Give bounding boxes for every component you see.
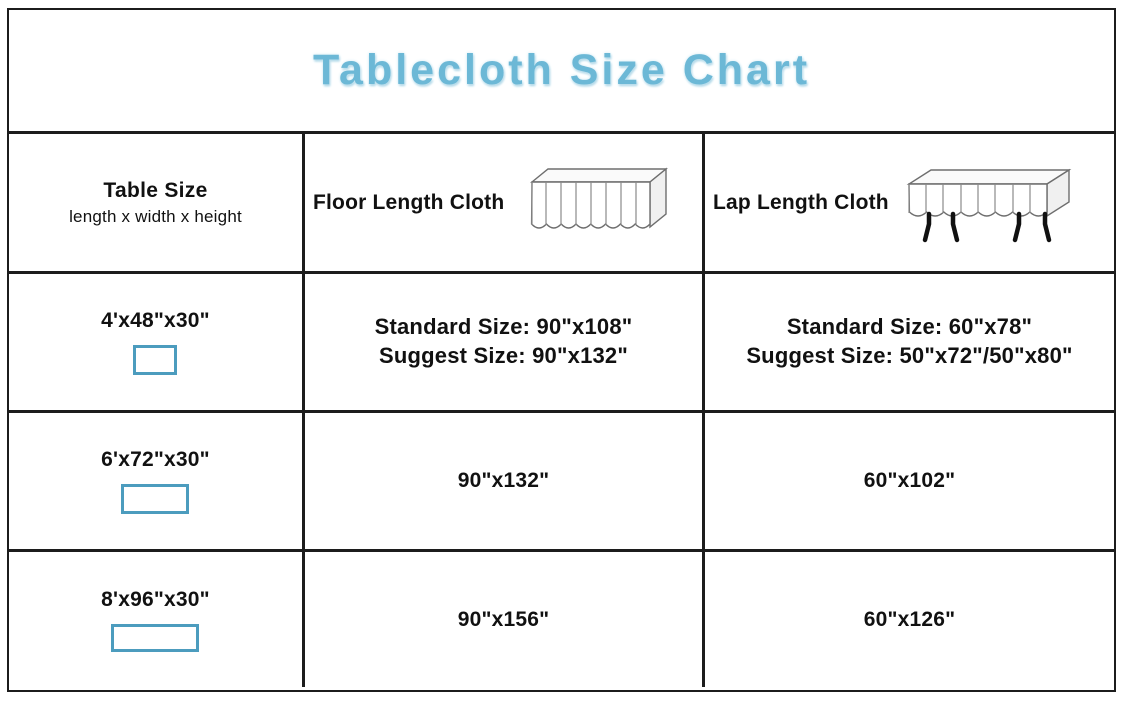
table-footprint-icon xyxy=(133,345,177,375)
table-size-value: 8'x96"x30" xyxy=(101,588,210,612)
floor-suggest-size: Suggest Size: 90"x132" xyxy=(375,342,633,371)
table-size-subtitle: length x width x height xyxy=(69,206,242,227)
cell-floor-length: 90"x156" xyxy=(305,552,705,687)
table-row: 8'x96"x30" 90"x156" 60"x126" xyxy=(9,552,1114,687)
table-header-row: Table Size length x width x height Floor… xyxy=(9,134,1114,274)
floor-standard-size: Standard Size: 90"x108" xyxy=(375,313,633,342)
cell-lap-length: Standard Size: 60"x78" Suggest Size: 50"… xyxy=(705,274,1114,410)
floor-length-size: 90"x132" xyxy=(458,467,550,494)
floor-length-tablecloth-icon xyxy=(510,164,668,242)
table-size-value: 6'x72"x30" xyxy=(101,448,210,472)
lap-length-tablecloth-icon xyxy=(895,162,1075,244)
floor-length-size: 90"x156" xyxy=(458,606,550,633)
header-cell-floor-length: Floor Length Cloth xyxy=(305,134,705,271)
cell-table-size: 8'x96"x30" xyxy=(9,552,305,687)
lap-standard-size: Standard Size: 60"x78" xyxy=(746,313,1072,342)
cell-lap-length: 60"x126" xyxy=(705,552,1114,687)
header-cell-table-size: Table Size length x width x height xyxy=(9,134,305,271)
table-legs-icon xyxy=(925,214,1049,240)
cell-floor-length: 90"x132" xyxy=(305,413,705,549)
lap-length-size: 60"x102" xyxy=(864,467,956,494)
table-footprint-icon xyxy=(111,624,199,652)
cell-lap-length: 60"x102" xyxy=(705,413,1114,549)
table-row: 6'x72"x30" 90"x132" 60"x102" xyxy=(9,413,1114,552)
table-row: 4'x48"x30" Standard Size: 90"x108" Sugge… xyxy=(9,274,1114,413)
cell-table-size: 6'x72"x30" xyxy=(9,413,305,549)
lap-suggest-size: Suggest Size: 50"x72"/50"x80" xyxy=(746,342,1072,371)
page-title: Tablecloth Size Chart xyxy=(313,46,810,95)
floor-length-label: Floor Length Cloth xyxy=(313,191,504,215)
table-footprint-icon xyxy=(121,484,189,514)
chart-title-row: Tablecloth Size Chart xyxy=(9,10,1114,134)
table-size-title: Table Size xyxy=(103,178,207,204)
cell-floor-length: Standard Size: 90"x108" Suggest Size: 90… xyxy=(305,274,705,410)
cell-table-size: 4'x48"x30" xyxy=(9,274,305,410)
header-cell-lap-length: Lap Length Cloth xyxy=(705,134,1114,271)
lap-length-label: Lap Length Cloth xyxy=(713,191,889,215)
table-size-value: 4'x48"x30" xyxy=(101,309,210,333)
lap-length-size: 60"x126" xyxy=(864,606,956,633)
tablecloth-size-chart: Tablecloth Size Chart Table Size length … xyxy=(7,8,1116,692)
